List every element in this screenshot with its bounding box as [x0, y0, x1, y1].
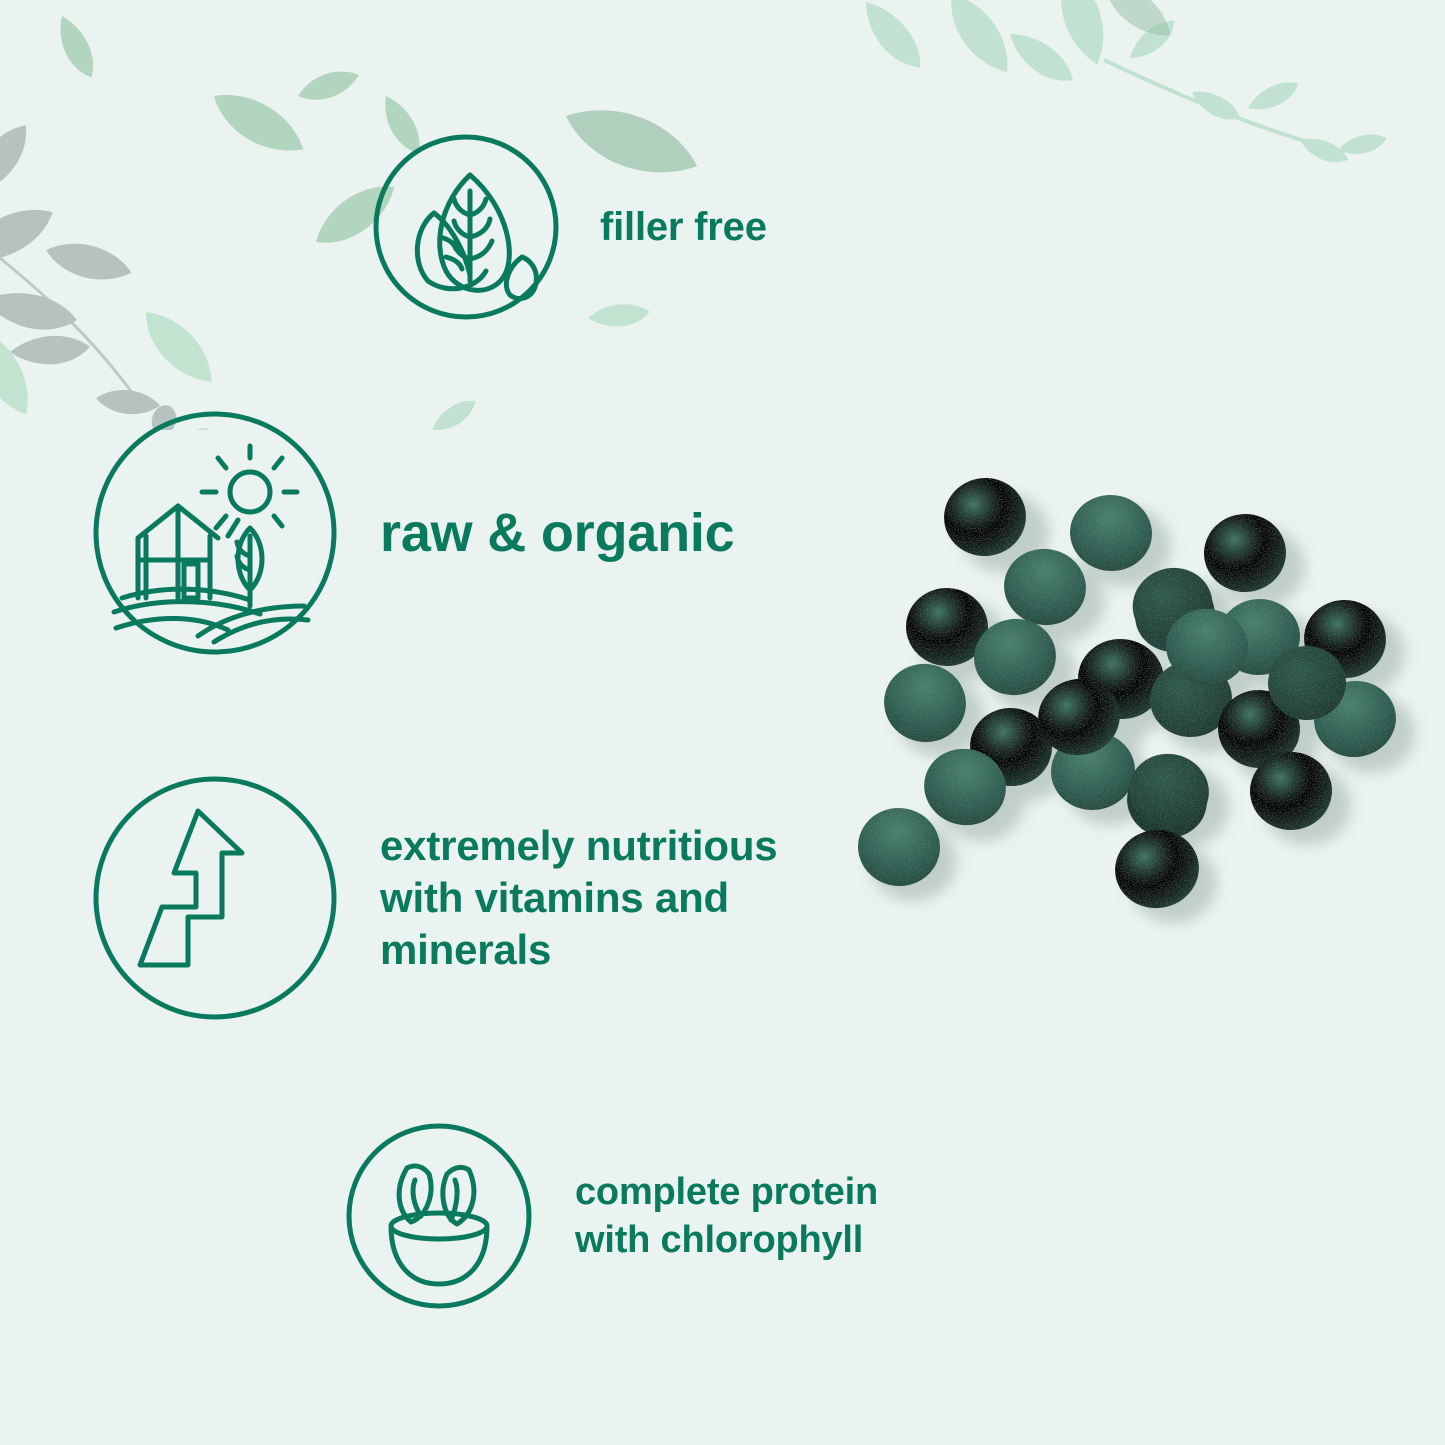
bowl-leaves-icon	[345, 1122, 533, 1310]
feature-protein: complete protein with chlorophyll	[345, 1122, 878, 1310]
leaf-drop-icon	[372, 133, 560, 321]
feature-label: complete protein with chlorophyll	[575, 1168, 878, 1264]
feature-raw-organic: raw & organic	[92, 410, 735, 656]
feature-filler-free: filler free	[372, 133, 767, 321]
product-infographic: filler free	[0, 0, 1445, 1445]
feature-label: filler free	[600, 203, 767, 251]
leaf-cluster-right	[853, 0, 1389, 168]
farm-sun-icon	[92, 410, 338, 656]
feature-label: extremely nutritious with vitamins and m…	[380, 820, 777, 976]
spirulina-tablets-photo	[855, 455, 1435, 955]
feature-label: raw & organic	[380, 502, 735, 564]
feature-nutritious: extremely nutritious with vitamins and m…	[92, 775, 777, 1021]
rising-arrow-icon	[92, 775, 338, 1021]
